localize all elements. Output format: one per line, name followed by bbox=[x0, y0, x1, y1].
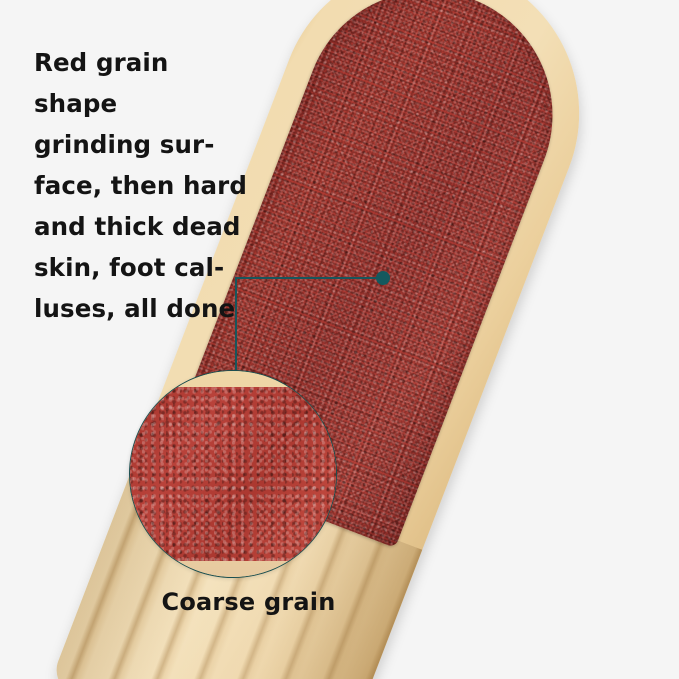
description-text: Red grain shape grinding sur- face, then… bbox=[34, 42, 249, 329]
magnified-grain-circle bbox=[129, 370, 337, 578]
magnified-grain-texture bbox=[129, 387, 337, 561]
callout-line-vertical bbox=[235, 277, 237, 373]
callout-line-horizontal bbox=[236, 277, 384, 279]
product-image-canvas: Red grain shape grinding sur- face, then… bbox=[0, 0, 679, 679]
magnifier-caption: Coarse grain bbox=[0, 588, 497, 616]
callout-dot-marker bbox=[376, 271, 390, 285]
